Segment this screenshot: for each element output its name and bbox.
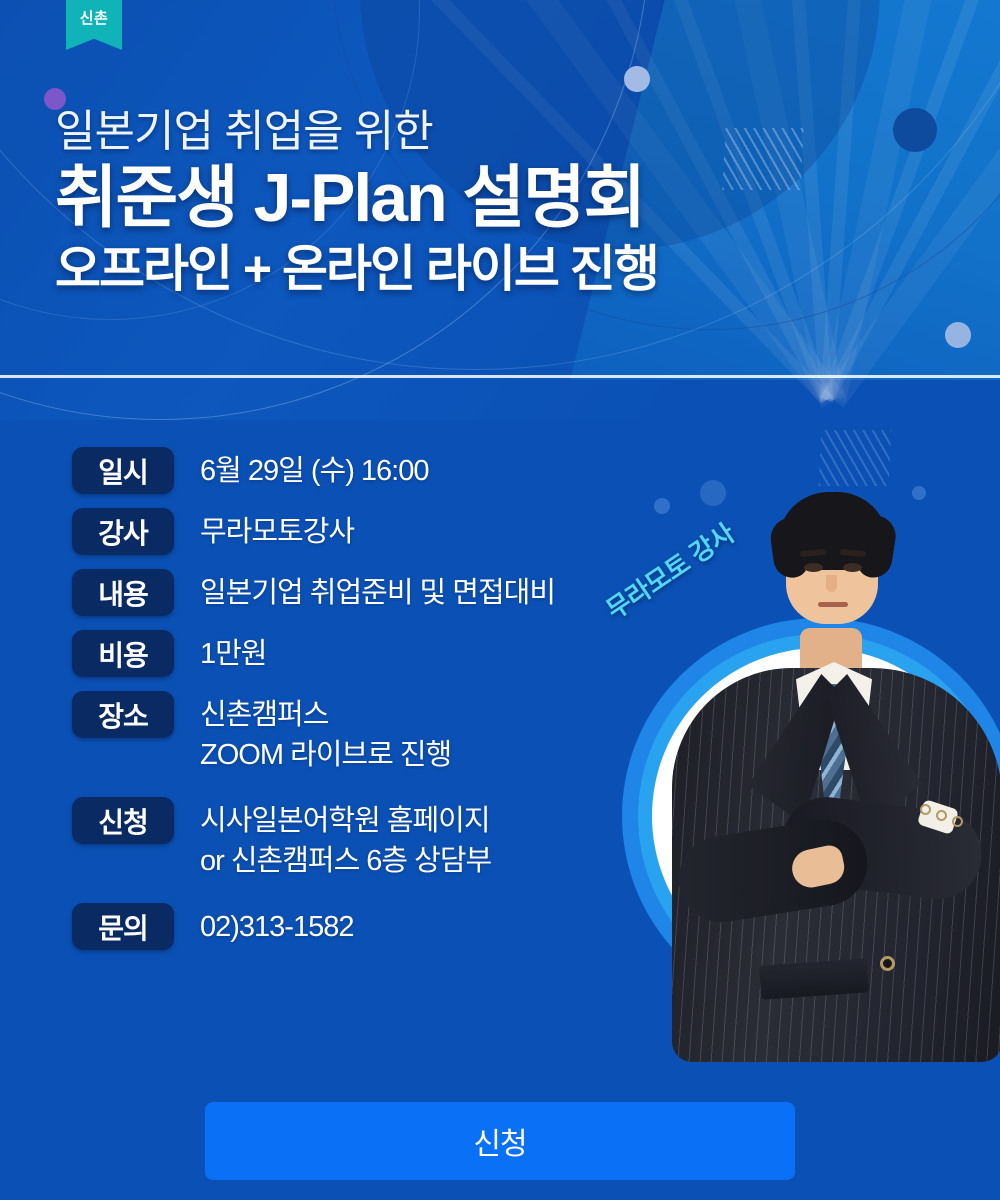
header-separator-line — [0, 375, 1000, 378]
dot-decoration-navy — [893, 108, 937, 152]
info-value-inquiry: 02)313-1582 — [200, 903, 353, 947]
info-label-location: 장소 — [72, 691, 174, 738]
info-row-date: 일시 6월 29일 (수) 16:00 — [72, 447, 672, 494]
dot-decoration-periwinkle-2 — [945, 322, 971, 348]
info-value-cost: 1만원 — [200, 630, 267, 674]
headline-block: 일본기업 취업을 위한 취준생 J-Plan 설명회 오프라인 + 온라인 라이… — [55, 108, 658, 298]
dot-decoration-periwinkle-1 — [624, 66, 650, 92]
info-label-instructor: 강사 — [72, 508, 174, 555]
info-label-date: 일시 — [72, 447, 174, 494]
info-row-apply: 신청 시사일본어학원 홈페이지 or 신촌캠퍼스 6층 상담부 — [72, 797, 672, 881]
headline-subtitle: 오프라인 + 온라인 라이브 진행 — [55, 240, 658, 298]
info-label-inquiry: 문의 — [72, 903, 174, 950]
info-value-date: 6월 29일 (수) 16:00 — [200, 447, 428, 491]
poster-canvas: 신촌 일본기업 취업을 위한 취준생 J-Plan 설명회 오프라인 + 온라인… — [0, 0, 1000, 1200]
info-value-location: 신촌캠퍼스 ZOOM 라이브로 진행 — [200, 691, 451, 775]
apply-button[interactable]: 신청 — [205, 1102, 795, 1180]
info-row-inquiry: 문의 02)313-1582 — [72, 903, 672, 950]
info-value-content: 일본기업 취업준비 및 면접대비 — [200, 569, 555, 613]
campus-badge-label: 신촌 — [80, 7, 109, 28]
info-label-cost: 비용 — [72, 630, 174, 677]
instructor-photo — [620, 432, 1000, 1062]
info-value-apply: 시사일본어학원 홈페이지 or 신촌캠퍼스 6층 상담부 — [200, 797, 491, 881]
info-value-instructor: 무라모토강사 — [200, 508, 354, 552]
info-label-apply: 신청 — [72, 797, 174, 844]
info-row-cost: 비용 1만원 — [72, 630, 672, 677]
info-row-location: 장소 신촌캠퍼스 ZOOM 라이브로 진행 — [72, 691, 672, 775]
info-row-instructor: 강사 무라모토강사 — [72, 508, 672, 555]
headline-pretitle: 일본기업 취업을 위한 — [55, 108, 658, 156]
info-row-content: 내용 일본기업 취업준비 및 면접대비 — [72, 569, 672, 616]
instructor-figure — [620, 432, 1000, 1062]
hatch-pattern-1 — [722, 128, 803, 190]
info-label-content: 내용 — [72, 569, 174, 616]
info-list: 일시 6월 29일 (수) 16:00 강사 무라모토강사 내용 일본기업 취업… — [72, 447, 672, 964]
headline-title: 취준생 J-Plan 설명회 — [55, 160, 658, 238]
